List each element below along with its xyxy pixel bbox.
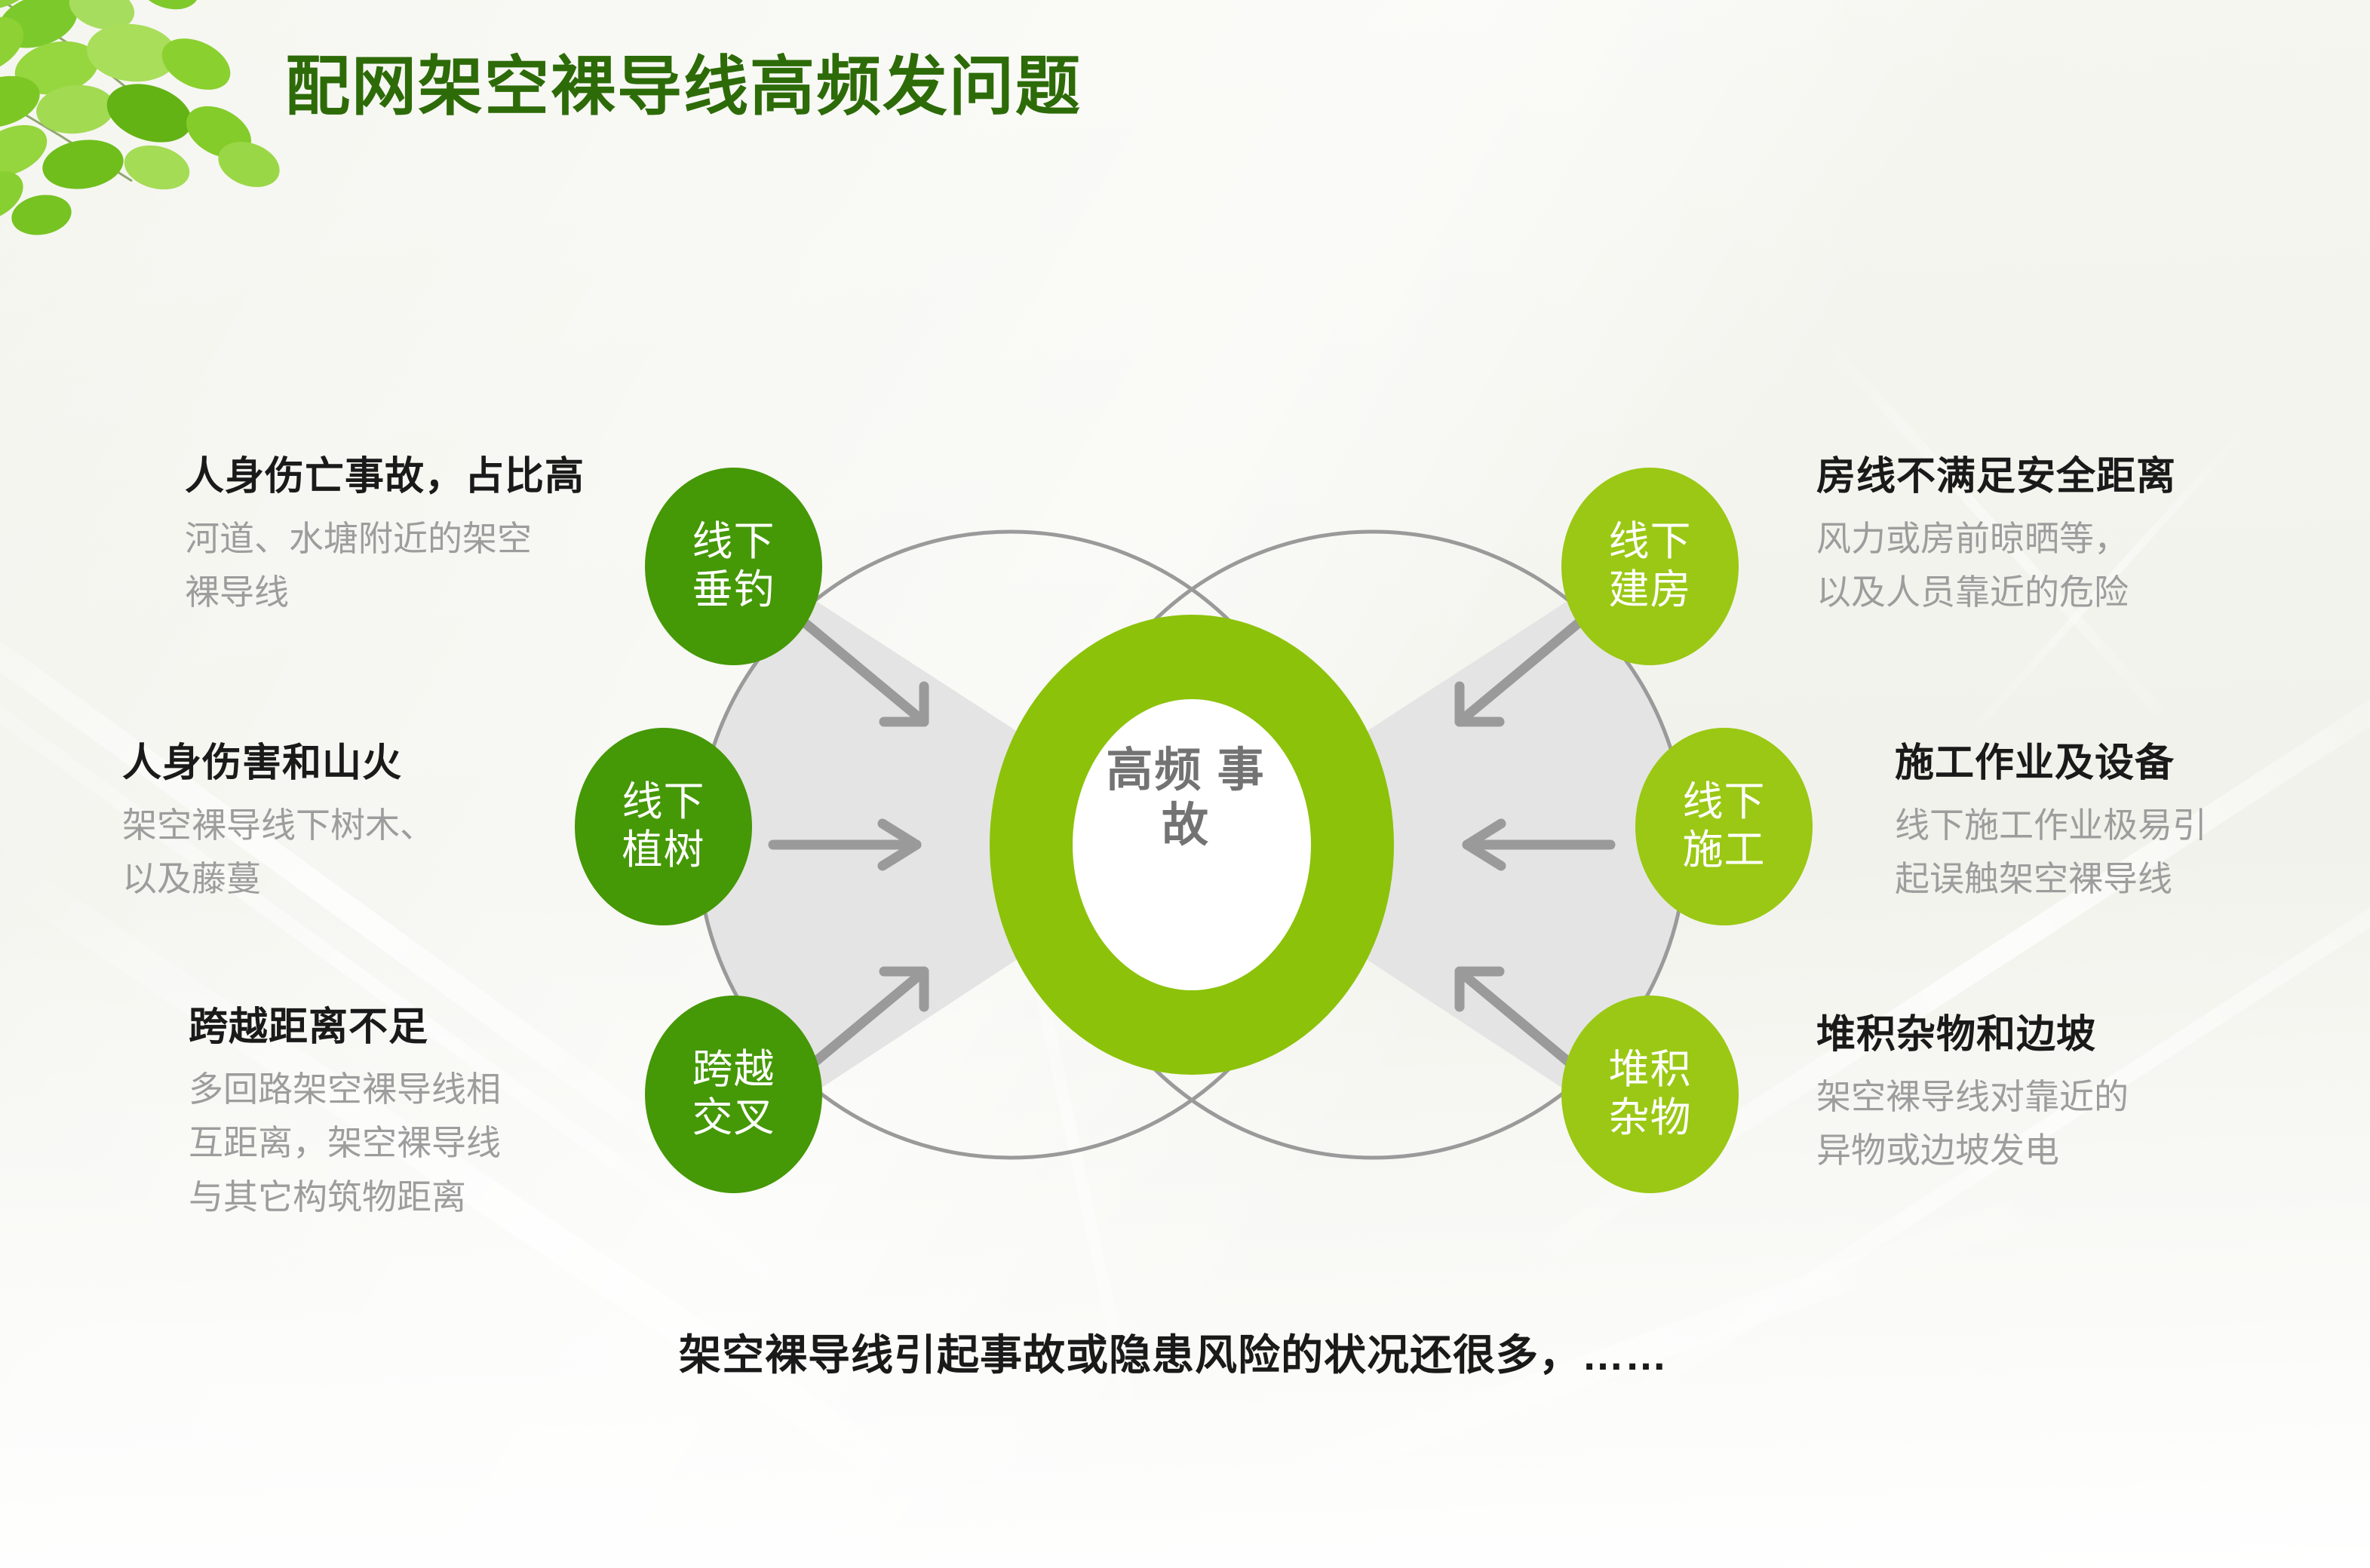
- node-construction-line2: 施工: [1683, 827, 1766, 875]
- node-crossing-line2: 交叉: [692, 1094, 775, 1143]
- node-debris-line1: 堆积: [1609, 1046, 1692, 1094]
- block-crossing-distance-head: 跨越距离不足: [189, 1003, 626, 1052]
- sub-line: 多回路架空裸导线相: [189, 1063, 626, 1116]
- node-debris[interactable]: 堆积 杂物: [1561, 996, 1739, 1193]
- node-construction-line1: 线下: [1683, 778, 1766, 827]
- block-casualty-sub: 河道、水塘附近的架空 裸导线: [185, 512, 622, 620]
- node-fishing-line1: 线下: [692, 518, 775, 566]
- node-building-line1: 线下: [1609, 518, 1692, 566]
- node-fishing[interactable]: 线下 垂钓: [645, 468, 822, 665]
- sub-line: 架空裸导线下树木、: [122, 799, 560, 852]
- block-casualty: 人身伤亡事故，占比高 河道、水塘附近的架空 裸导线: [185, 453, 622, 620]
- center-label: 高频 事故: [1103, 743, 1269, 853]
- block-casualty-head: 人身伤亡事故，占比高: [185, 453, 622, 502]
- block-construction-equip-head: 施工作业及设备: [1895, 739, 2370, 788]
- node-planting-line1: 线下: [622, 778, 705, 827]
- node-building-line2: 建房: [1609, 566, 1692, 615]
- sub-line: 起误触架空裸导线: [1895, 852, 2370, 906]
- center-line-1: 高频: [1106, 744, 1202, 796]
- block-construction-equip: 施工作业及设备 线下施工作业极易引 起误触架空裸导线: [1895, 739, 2370, 907]
- node-fishing-line2: 垂钓: [692, 566, 775, 615]
- block-debris-slope-sub: 架空裸导线对靠近的 异物或边坡发电: [1816, 1070, 2299, 1178]
- node-planting-line2: 植树: [622, 827, 705, 875]
- sub-line: 裸导线: [185, 566, 622, 619]
- footer-note: 架空裸导线引起事故或隐患风险的状况还很多，……: [679, 1321, 1668, 1382]
- block-construction-equip-sub: 线下施工作业极易引 起误触架空裸导线: [1895, 799, 2370, 907]
- block-house-distance-head: 房线不满足安全距离: [1816, 453, 2299, 502]
- sub-line: 与其它构筑物距离: [189, 1171, 626, 1224]
- node-building[interactable]: 线下 建房: [1561, 468, 1739, 665]
- sub-line: 以及藤蔓: [122, 852, 560, 906]
- block-injury-fire-sub: 架空裸导线下树木、 以及藤蔓: [122, 799, 560, 907]
- sub-line: 互距离，架空裸导线: [189, 1116, 626, 1170]
- block-crossing-distance: 跨越距离不足 多回路架空裸导线相 互距离，架空裸导线 与其它构筑物距离: [189, 1003, 626, 1224]
- node-crossing[interactable]: 跨越 交叉: [645, 996, 822, 1193]
- sub-line: 以及人员靠近的危险: [1816, 566, 2299, 619]
- block-debris-slope: 堆积杂物和边坡 架空裸导线对靠近的 异物或边坡发电: [1816, 1011, 2299, 1178]
- sub-line: 架空裸导线对靠近的: [1816, 1070, 2299, 1124]
- block-house-distance: 房线不满足安全距离 风力或房前晾晒等， 以及人员靠近的危险: [1816, 453, 2299, 620]
- slide-canvas: 配网架空裸导线高频发问题: [0, 0, 2370, 1568]
- block-crossing-distance-sub: 多回路架空裸导线相 互距离，架空裸导线 与其它构筑物距离: [189, 1063, 626, 1224]
- sub-line: 风力或房前晾晒等，: [1816, 512, 2299, 566]
- node-crossing-line1: 跨越: [692, 1046, 775, 1094]
- sub-line: 河道、水塘附近的架空: [185, 512, 622, 566]
- sub-line: 异物或边坡发电: [1816, 1124, 2299, 1177]
- block-injury-fire: 人身伤害和山火 架空裸导线下树木、 以及藤蔓: [122, 739, 560, 907]
- page-title: 配网架空裸导线高频发问题: [285, 51, 1082, 123]
- sub-line: 线下施工作业极易引: [1895, 799, 2370, 852]
- node-planting[interactable]: 线下 植树: [575, 728, 752, 925]
- node-debris-line2: 杂物: [1609, 1094, 1692, 1143]
- node-construction[interactable]: 线下 施工: [1635, 728, 1813, 925]
- block-debris-slope-head: 堆积杂物和边坡: [1816, 1011, 2299, 1060]
- block-injury-fire-head: 人身伤害和山火: [122, 739, 560, 788]
- block-house-distance-sub: 风力或房前晾晒等， 以及人员靠近的危险: [1816, 512, 2299, 620]
